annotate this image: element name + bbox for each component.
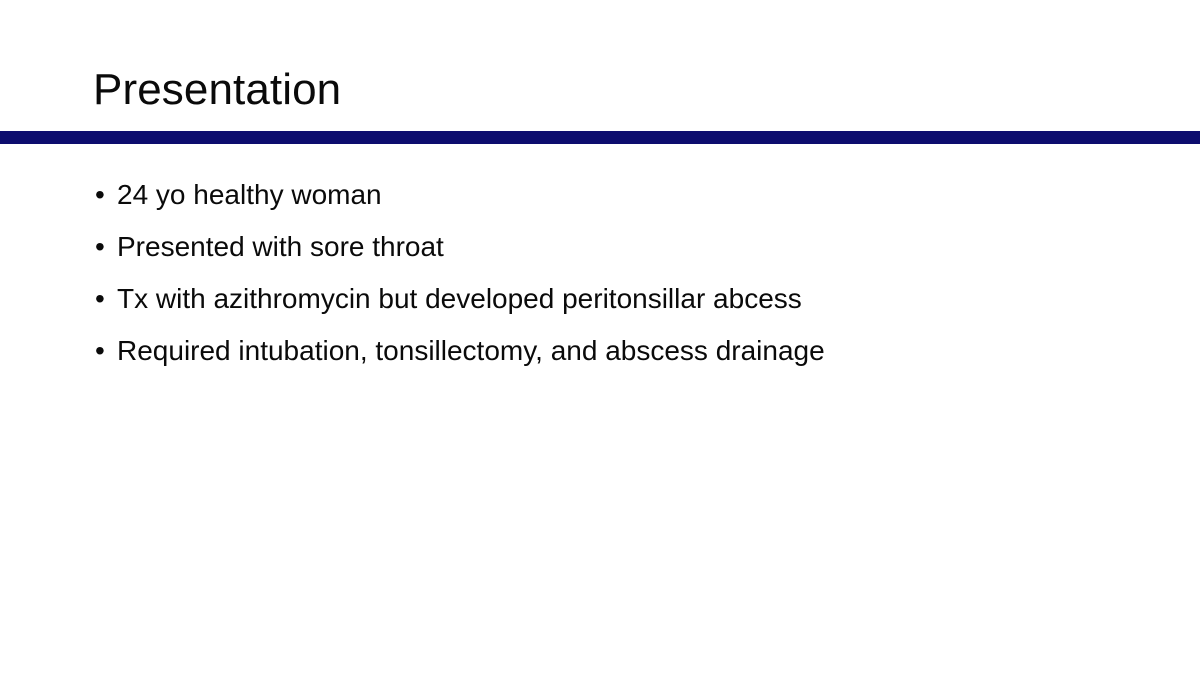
list-item-label: Tx with azithromycin but developed perit… [117, 283, 802, 314]
list-item: • Tx with azithromycin but developed per… [93, 284, 1123, 314]
slide-canvas: Presentation • 24 yo healthy woman • Pre… [0, 0, 1200, 675]
body-placeholder: • 24 yo healthy woman • Presented with s… [93, 180, 1123, 366]
list-item-label: Required intubation, tonsillectomy, and … [117, 335, 825, 366]
list-item: • Presented with sore throat [93, 232, 1123, 262]
bullet-point-icon: • [95, 284, 111, 314]
bullet-point-icon: • [95, 232, 111, 262]
page-title: Presentation [93, 62, 1113, 118]
title-divider-rule [0, 131, 1200, 144]
bullet-point-icon: • [95, 336, 111, 366]
list-item-label: 24 yo healthy woman [117, 179, 382, 210]
list-item: • 24 yo healthy woman [93, 180, 1123, 210]
bullet-point-icon: • [95, 180, 111, 210]
list-item-label: Presented with sore throat [117, 231, 444, 262]
title-placeholder: Presentation [93, 62, 1113, 128]
bullet-list: • 24 yo healthy woman • Presented with s… [93, 180, 1123, 366]
list-item: • Required intubation, tonsillectomy, an… [93, 336, 1123, 366]
